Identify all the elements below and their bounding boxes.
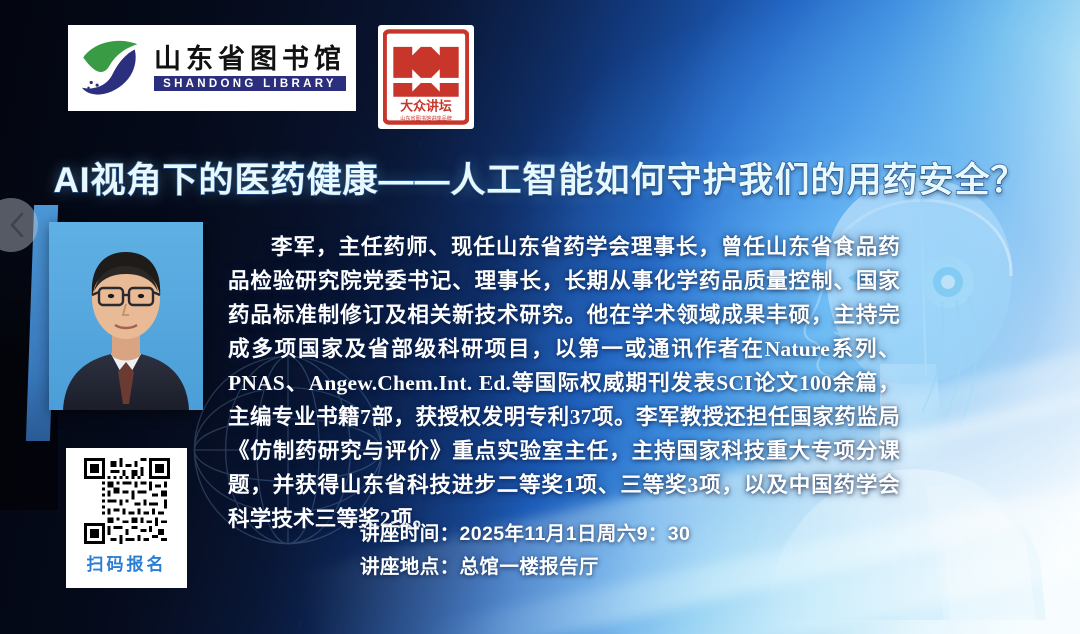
qr-registration-card[interactable]: 扫码报名 [66, 448, 187, 588]
shandong-library-logo: 山东省图书馆 SHANDONG LIBRARY [68, 25, 356, 111]
library-emblem-icon [78, 35, 144, 101]
portrait-photo [49, 222, 203, 410]
event-place-label: 讲座地点： [360, 556, 460, 578]
qr-label: 扫码报名 [87, 550, 167, 575]
dazhong-forum-seal: 大众讲坛 山东省图书馆讲座品牌 [378, 25, 474, 129]
seal-icon: 大众讲坛 山东省图书馆讲座品牌 [383, 27, 469, 127]
logo-row: 山东省图书馆 SHANDONG LIBRARY 大众讲坛 山东省图书馆讲座品牌 [68, 25, 474, 129]
seal-main-text: 大众讲坛 [400, 99, 452, 114]
speaker-portrait [49, 222, 203, 410]
lecture-poster-slide: 山东省图书馆 SHANDONG LIBRARY 大众讲坛 山东省图书馆讲座品牌 … [0, 0, 1080, 634]
event-time-row: 讲座时间：2025年11月1日周六9：30 [360, 518, 690, 551]
seal-sub-text: 山东省图书馆讲座品牌 [400, 114, 452, 122]
event-place-value: 总馆一楼报告厅 [460, 556, 599, 578]
speaker-bio: 李军，主任药师、现任山东省药学会理事长，曾任山东省食品药品检验研究院党委书记、理… [228, 230, 900, 536]
qr-code-icon [84, 458, 170, 544]
chevron-left-icon [8, 211, 26, 239]
poster-title: AI视角下的医药健康——人工智能如何守护我们的用药安全？ [40, 152, 1040, 203]
event-details: 讲座时间：2025年11月1日周六9：30 讲座地点：总馆一楼报告厅 [360, 518, 690, 584]
event-time-value: 2025年11月1日周六9：30 [460, 523, 691, 545]
library-name-en: SHANDONG LIBRARY [154, 76, 346, 91]
event-time-label: 讲座时间： [360, 523, 460, 545]
event-place-row: 讲座地点：总馆一楼报告厅 [360, 551, 690, 584]
library-name-cn: 山东省图书馆 [154, 45, 346, 74]
